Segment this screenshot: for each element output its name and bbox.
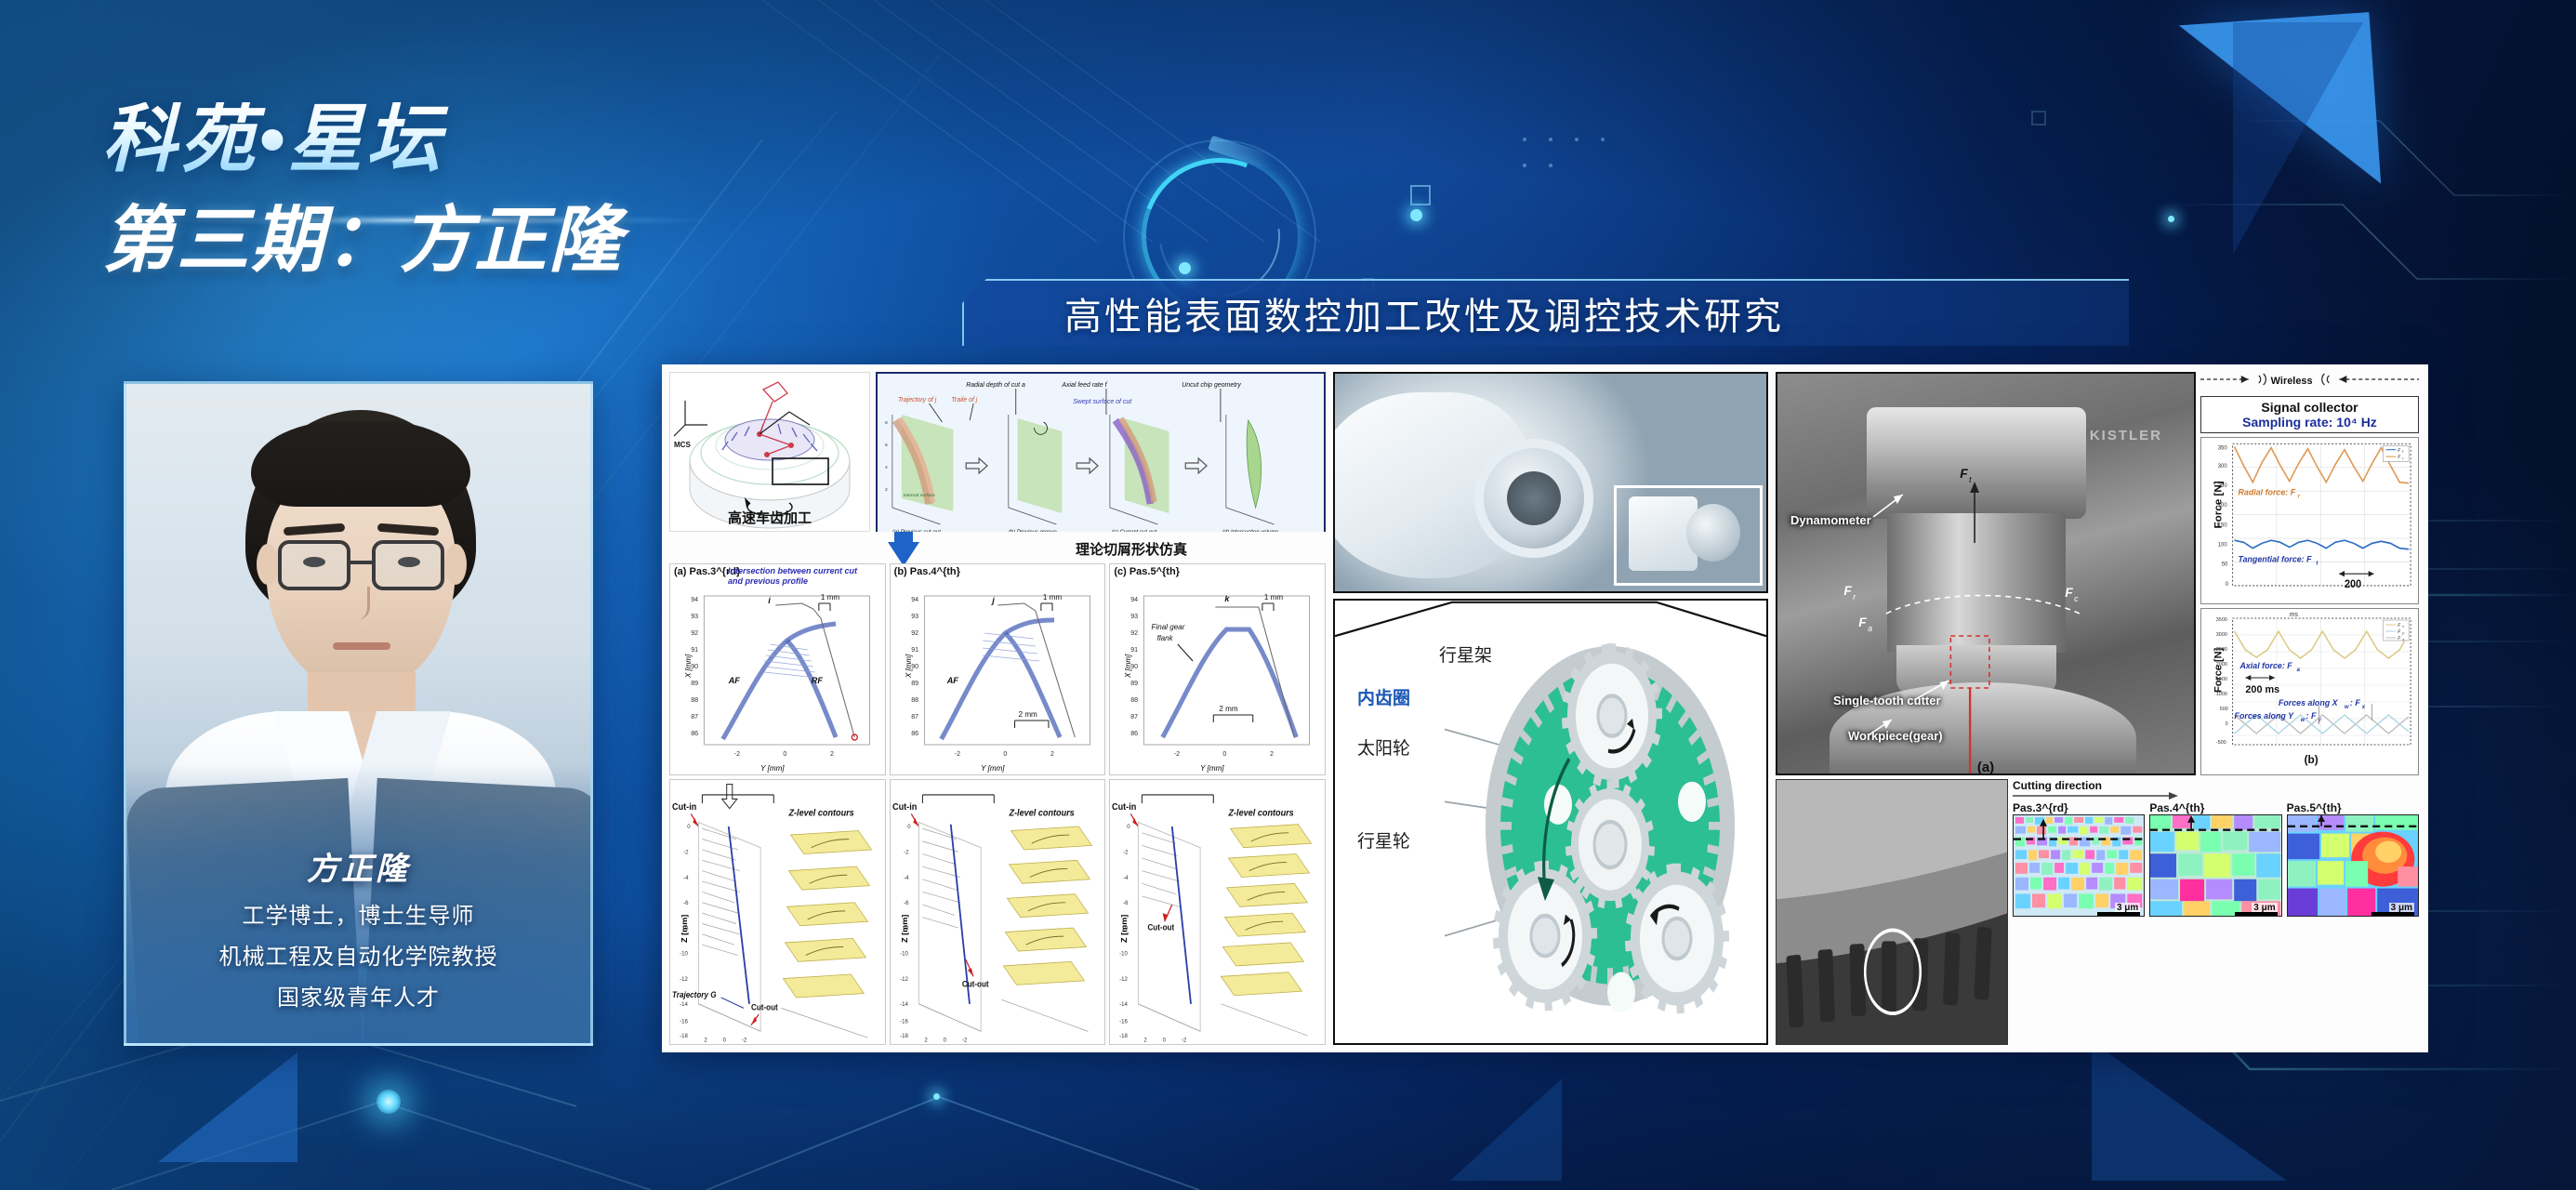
svg-text:Cut-out: Cut-out: [751, 1002, 778, 1012]
svg-text:-10: -10: [680, 950, 688, 957]
svg-text:91: 91: [911, 647, 918, 654]
svg-text:-12: -12: [900, 976, 908, 983]
wireless-link-row: Wireless: [2200, 372, 2419, 392]
svg-text:a: a: [1868, 624, 1872, 633]
svg-text:Force [N]: Force [N]: [2213, 647, 2225, 693]
svg-text:-2: -2: [1174, 751, 1180, 758]
svg-text:93: 93: [1131, 614, 1139, 620]
poster-column-gearbox: 行星架 内齿圈 太阳轮 行星轮: [1333, 372, 1768, 1045]
svg-text:F: F: [1960, 466, 1968, 481]
ebsd-caption-pas5: Pas.5^{th}: [2287, 801, 2419, 814]
svg-text:-4: -4: [1124, 875, 1129, 881]
svg-text:93: 93: [691, 614, 698, 620]
signal-collector-title: Signal collector: [2205, 400, 2414, 415]
svg-text:50: 50: [2222, 562, 2228, 568]
portrait-mouth: [333, 642, 390, 650]
svg-text:(b): (b): [2305, 753, 2318, 766]
svg-text:2: 2: [1050, 751, 1054, 758]
svg-text:Trajectory G: Trajectory G: [672, 990, 717, 1000]
sim-flow-arrow-row: 理论切屑形状仿真: [669, 535, 1326, 560]
ebsd-map-pas3-svg: [2014, 815, 2144, 916]
ebsd-scale-bar-pas4: [2235, 912, 2278, 916]
portrait-ear-left: [257, 544, 279, 585]
svg-text:92: 92: [911, 630, 918, 637]
svg-text:Radial depth of cut a: Radial depth of cut a: [966, 382, 1025, 389]
svg-text:94: 94: [911, 597, 918, 603]
ebsd-map-pas4: 3 μm: [2149, 814, 2281, 917]
force-chart-bottom-svg: ms 350030002500 2000150: [2201, 609, 2418, 774]
svg-text:0: 0: [1163, 1037, 1167, 1043]
svg-text:88: 88: [911, 697, 918, 704]
ebsd-map-pas3: 3 μm: [2013, 814, 2145, 917]
svg-text:Uncut chip geometry: Uncut chip geometry: [1182, 382, 1241, 389]
contour-plot-1-svg: Cut-in 0-2-4-6 -8-10-12-14 -16-18: [670, 780, 885, 1044]
force-chart-top: 350300250 200150100 500 Radial force: Fr…: [2200, 437, 2419, 604]
svg-text:-18: -18: [900, 1033, 908, 1039]
svg-text:91: 91: [1131, 647, 1139, 654]
profile-plot-a-legend: Intersection between current cut and pre…: [728, 566, 867, 587]
profile-plot-row: (a) Pas.3^{rd} Intersection between curr…: [669, 563, 1326, 775]
svg-text:Axial feed rate f: Axial feed rate f: [1061, 382, 1107, 389]
svg-text:t: t: [1969, 475, 1972, 484]
force-charts-column: Wireless Signal collector Sampling rate:…: [2200, 372, 2419, 775]
ebsd-panel: Cutting direction Pas.3^{rd}: [2013, 779, 2419, 1045]
portrait-nose: [350, 587, 370, 620]
svg-text:6: 6: [885, 443, 888, 448]
svg-text:2: 2: [830, 751, 834, 758]
svg-text:y: y: [2317, 718, 2321, 723]
triangle-decor-3: [158, 1052, 297, 1162]
svg-text:87: 87: [911, 714, 918, 721]
svg-text:Z [mm]: Z [mm]: [900, 915, 908, 943]
ebsd-map-row: Pas.3^{rd}: [2013, 801, 2419, 917]
svg-text:88: 88: [691, 697, 698, 704]
svg-text:: F: : F: [2306, 711, 2317, 721]
svg-text:: F: : F: [2350, 698, 2360, 707]
svg-text:-10: -10: [1119, 950, 1128, 957]
svg-text:-4: -4: [683, 875, 689, 881]
profile-plot-b-svg: 949392 919089 888786 -202 1 mm: [891, 564, 1105, 776]
svg-text:2 mm: 2 mm: [1018, 710, 1037, 719]
svg-text:X [mm]: X [mm]: [1125, 654, 1133, 679]
svg-text:Z-level contours: Z-level contours: [1008, 808, 1075, 819]
svg-text:(b) Previous groove: (b) Previous groove: [1009, 530, 1058, 532]
svg-text:2 mm: 2 mm: [1220, 705, 1239, 713]
svg-text:-2: -2: [904, 849, 909, 855]
svg-text:-2: -2: [954, 751, 959, 758]
contour-plot-3: Cut-in 0-2-4-6 -8-10-12-14 -16-18: [1109, 779, 1326, 1045]
svg-text:Trajectory of j: Trajectory of j: [898, 397, 937, 403]
svg-text:-4: -4: [904, 875, 909, 881]
ebsd-scale-bar-pas5: [2371, 912, 2414, 916]
svg-text:0: 0: [687, 824, 691, 830]
glow-node-4: [933, 1093, 940, 1100]
svg-text:93: 93: [911, 614, 918, 620]
cutting-direction-arrow-icon: [2013, 792, 2180, 800]
planetary-gear-svg: [1335, 601, 1766, 1043]
svg-text:92: 92: [691, 630, 698, 637]
svg-text:-16: -16: [680, 1018, 688, 1025]
triangle-decor-5: [1450, 1078, 1562, 1181]
svg-text:Cut-in: Cut-in: [1112, 801, 1136, 813]
svg-text:3000: 3000: [2216, 632, 2227, 638]
svg-text:Tangential force: F: Tangential force: F: [2238, 554, 2311, 563]
svg-text:200 ms: 200 ms: [2245, 684, 2279, 695]
svg-text:-2: -2: [683, 849, 689, 855]
chip-formation-panel: Radial depth of cut a Axial feed rate f …: [876, 372, 1326, 532]
svg-text:-18: -18: [680, 1033, 688, 1039]
speaker-credential-1: 工学博士，博士生导师: [126, 897, 590, 930]
svg-text:Radial force: F: Radial force: F: [2238, 487, 2295, 496]
svg-text:88: 88: [1131, 697, 1139, 704]
svg-text:-500: -500: [2216, 740, 2226, 746]
svg-text:RF: RF: [812, 676, 824, 685]
svg-text:2: 2: [885, 487, 888, 493]
speaker-credential-2: 机械工程及自动化学院教授: [126, 938, 590, 971]
svg-text:Cut-in: Cut-in: [672, 801, 696, 813]
svg-text:F: F: [1843, 583, 1852, 598]
speaker-credential-3: 国家级青年人才: [126, 979, 590, 1011]
chip-formation-svg: Radial depth of cut a Axial feed rate f …: [878, 374, 1324, 532]
simulation-top-row: MCS 高速车齿加工 Radial depth of cut a Axial f…: [669, 372, 1326, 532]
svg-text:100: 100: [2218, 541, 2227, 548]
svg-text:0: 0: [1128, 824, 1131, 830]
svg-text:(c) Current cut-out: (c) Current cut-out: [1112, 530, 1157, 532]
svg-text:MCS: MCS: [674, 441, 691, 449]
sim-caption-right: 理论切屑形状仿真: [937, 539, 1326, 559]
profile-plot-c: (c) Pas.5^{th} 949392 919089 888786 -202…: [1109, 563, 1326, 775]
svg-text:-2: -2: [742, 1037, 747, 1043]
svg-text:c: c: [2074, 594, 2079, 603]
cutting-direction-label: Cutting direction: [2013, 779, 2419, 792]
svg-text:ms: ms: [2290, 612, 2299, 618]
profile-plot-b: (b) Pas.4^{th} 949392 919089 888786 -202: [890, 563, 1106, 775]
svg-text:j: j: [991, 596, 995, 605]
svg-text:-16: -16: [1119, 1018, 1128, 1025]
ebsd-cell-pas5: Pas.5^{th}: [2287, 801, 2419, 917]
poster-column-experiment: KISTLER Dynamometer Single-tooth cutter …: [1776, 372, 2419, 1045]
svg-text:350: 350: [2218, 445, 2227, 452]
svg-text:-14: -14: [680, 1001, 688, 1008]
title-block: 科苑•星坛 第三期：方正隆: [102, 102, 865, 279]
svg-text:Y [mm]: Y [mm]: [981, 764, 1005, 773]
svg-text:0: 0: [907, 824, 911, 830]
svg-text:2: 2: [1144, 1037, 1148, 1043]
svg-text:Axial force: F: Axial force: F: [2239, 661, 2292, 670]
svg-text:-2: -2: [734, 751, 740, 758]
svg-text:1 mm: 1 mm: [1264, 593, 1284, 602]
portrait-glasses-bridge: [350, 561, 372, 564]
svg-text:-6: -6: [683, 900, 689, 906]
svg-text:F: F: [2065, 585, 2073, 600]
contour-plot-2-svg: Cut-in 0-2-4-6 -8-10-12-14 -16-18: [891, 780, 1105, 1044]
svg-text:Y [mm]: Y [mm]: [760, 764, 785, 773]
svg-text:Forces along Y: Forces along Y: [2235, 711, 2295, 721]
profile-plot-a-svg: 949392 919089 888786 -202: [670, 564, 885, 776]
svg-text:-12: -12: [1119, 976, 1128, 983]
triangle-decor-4: [2092, 1041, 2287, 1181]
glow-node-1: [376, 1090, 401, 1114]
svg-text:w: w: [2301, 718, 2305, 723]
svg-text:0: 0: [723, 1037, 727, 1043]
svg-text:94: 94: [691, 597, 698, 603]
svg-text:Cut-out: Cut-out: [962, 979, 989, 989]
svg-text:Z-level contours: Z-level contours: [788, 808, 855, 819]
svg-text:z: z: [2401, 637, 2404, 641]
svg-text:-6: -6: [904, 900, 909, 906]
svg-text:-14: -14: [1119, 1001, 1128, 1008]
svg-text:-12: -12: [680, 976, 688, 983]
svg-text:F: F: [1858, 615, 1867, 629]
banner-corner-glow: [1179, 262, 1191, 274]
triangle-decor-2: [2233, 22, 2363, 255]
profile-plot-c-label: (c) Pas.5^{th}: [1114, 566, 1180, 577]
svg-text:Traile of j: Traile of j: [951, 397, 977, 403]
contour-plot-3-svg: Cut-in 0-2-4-6 -8-10-12-14 -16-18: [1110, 780, 1325, 1044]
ebsd-caption-pas3: Pas.3^{rd}: [2013, 801, 2145, 814]
gear-turning-schematic: MCS 高速车齿加工: [669, 372, 870, 532]
svg-text:0: 0: [1003, 751, 1007, 758]
profile-plot-b-label: (b) Pas.4^{th}: [894, 566, 960, 577]
episode-title: 第三期：方正隆: [102, 203, 865, 279]
svg-text:Swept surface of cut: Swept surface of cut: [1073, 399, 1132, 405]
topic-banner: 高性能表面数控加工改性及调控技术研究: [962, 279, 2129, 346]
svg-text:0: 0: [943, 1037, 946, 1043]
ebsd-map-pas5-svg: [2288, 815, 2418, 916]
svg-text:-6: -6: [1124, 900, 1129, 906]
experiment-bottom-row: Cutting direction Pas.3^{rd}: [1776, 779, 2419, 1045]
portrait-glasses-left: [278, 540, 350, 590]
gearbox-detail-gear: [1686, 504, 1740, 562]
topic-banner-text: 高性能表面数控加工改性及调控技术研究: [1064, 286, 1784, 340]
research-poster: MCS 高速车齿加工 Radial depth of cut a Axial f…: [662, 364, 2428, 1052]
svg-text:94: 94: [1131, 597, 1139, 603]
svg-text:2: 2: [1270, 751, 1274, 758]
svg-text:Final gear: Final gear: [1152, 623, 1185, 631]
svg-text:0: 0: [783, 751, 786, 758]
machined-gear-photo: [1776, 779, 2008, 1045]
svg-text:89: 89: [1131, 681, 1139, 687]
glow-node-2: [1410, 209, 1422, 221]
svg-text:Internal surface: Internal surface: [904, 493, 935, 498]
machined-gear-svg: [1777, 780, 2007, 1044]
svg-text:flank: flank: [1157, 634, 1174, 642]
svg-text:87: 87: [1131, 714, 1139, 721]
contour-plot-row: Cut-in 0-2-4-6 -8-10-12-14 -16-18: [669, 779, 1326, 1045]
svg-text:x: x: [2361, 705, 2366, 710]
svg-text:Z-level contours: Z-level contours: [1228, 808, 1295, 819]
svg-text:Wireless: Wireless: [2271, 376, 2313, 387]
svg-text:89: 89: [911, 681, 918, 687]
planetary-gear-schematic: 行星架 内齿圈 太阳轮 行星轮: [1333, 599, 1768, 1045]
wind-turbine-gearbox-photo: [1333, 372, 1768, 593]
svg-text:Y [mm]: Y [mm]: [1200, 764, 1224, 773]
svg-text:0: 0: [2226, 721, 2228, 727]
signal-collector-rate: Sampling rate: 10⁴ Hz: [2205, 415, 2414, 430]
svg-text:w: w: [2345, 705, 2349, 710]
ring-segment-decor: [1208, 136, 1275, 170]
svg-text:500: 500: [2220, 707, 2228, 712]
svg-text:Forces along X: Forces along X: [2279, 698, 2339, 707]
glow-node-3: [2168, 216, 2174, 222]
svg-text:-10: -10: [900, 950, 908, 957]
speaker-portrait-card: 方正隆 工学博士，博士生导师 机械工程及自动化学院教授 国家级青年人才: [124, 381, 593, 1046]
profile-plot-c-svg: 949392 919089 888786 -202 1 mm 2 mm k Fi…: [1110, 564, 1325, 776]
svg-text:Cut-in: Cut-in: [892, 801, 917, 813]
svg-text:300: 300: [2218, 463, 2227, 469]
svg-text:8: 8: [885, 420, 888, 426]
presentation-slide: 科苑•星坛 第三期：方正隆 高性能表面数控加工改性及调控技术研究 方正隆: [0, 0, 2576, 1190]
dynamometer-setup-photo: KISTLER Dynamometer Single-tooth cutter …: [1776, 372, 2196, 775]
sim-caption-left: 高速车齿加工: [670, 508, 869, 527]
svg-text:Z [mm]: Z [mm]: [1120, 915, 1129, 943]
speaker-info: 方正隆 工学博士，博士生导师 机械工程及自动化学院教授 国家级青年人才: [126, 843, 590, 1011]
experiment-top-row: KISTLER Dynamometer Single-tooth cutter …: [1776, 372, 2419, 775]
force-chart-top-svg: 350300250 200150100 500 Radial force: Fr…: [2201, 438, 2418, 603]
svg-text:-2: -2: [1124, 849, 1129, 855]
speaker-name: 方正隆: [126, 843, 590, 889]
svg-text:AF: AF: [945, 676, 958, 685]
svg-text:2: 2: [704, 1037, 707, 1043]
svg-text:Z [mm]: Z [mm]: [680, 915, 689, 943]
svg-text:1 mm: 1 mm: [821, 593, 840, 602]
svg-text:-18: -18: [1119, 1033, 1128, 1039]
poster-column-simulation: MCS 高速车齿加工 Radial depth of cut a Axial f…: [669, 372, 1326, 1045]
series-title: 科苑•星坛: [102, 102, 865, 177]
contour-plot-1: Cut-in 0-2-4-6 -8-10-12-14 -16-18: [669, 779, 886, 1045]
svg-text:92: 92: [1131, 630, 1139, 637]
svg-text:89: 89: [691, 681, 698, 687]
svg-text:87: 87: [691, 714, 698, 721]
svg-text:Cut-out: Cut-out: [1148, 922, 1175, 932]
svg-text:0: 0: [2226, 581, 2229, 588]
svg-text:2: 2: [924, 1037, 928, 1043]
dyno-caption: (a): [1777, 760, 2194, 775]
svg-text:-14: -14: [900, 1001, 908, 1008]
svg-text:3500: 3500: [2216, 617, 2227, 623]
svg-text:X [mm]: X [mm]: [684, 654, 693, 679]
signal-collector-box: Signal collector Sampling rate: 10⁴ Hz: [2200, 396, 2419, 433]
svg-text:0: 0: [1223, 751, 1227, 758]
svg-text:-2: -2: [962, 1037, 968, 1043]
ebsd-caption-pas4: Pas.4^{th}: [2149, 801, 2281, 814]
ebsd-scale-bar-pas3: [2097, 912, 2140, 916]
force-chart-bottom: ms 350030002500 2000150: [2200, 608, 2419, 775]
svg-text:AF: AF: [728, 676, 741, 685]
ebsd-cell-pas4: Pas.4^{th}: [2149, 801, 2281, 917]
wireless-link-svg: Wireless: [2200, 372, 2419, 392]
triangle-decor-1: [2179, 12, 2381, 197]
svg-text:Force [N]: Force [N]: [2213, 481, 2225, 528]
ebsd-map-pas5: 3 μm: [2287, 814, 2419, 917]
portrait-fringe: [251, 421, 470, 507]
svg-text:200: 200: [2345, 579, 2361, 590]
contour-plot-2: Cut-in 0-2-4-6 -8-10-12-14 -16-18: [890, 779, 1106, 1045]
profile-plot-a: (a) Pas.3^{rd} Intersection between curr…: [669, 563, 886, 775]
svg-text:-16: -16: [900, 1018, 908, 1025]
portrait-glasses-right: [372, 540, 444, 590]
svg-text:1 mm: 1 mm: [1043, 593, 1063, 602]
svg-text:X [mm]: X [mm]: [905, 654, 913, 679]
svg-text:-2: -2: [1182, 1037, 1187, 1043]
gearbox-shaft: [1507, 471, 1561, 525]
svg-text:4: 4: [885, 465, 888, 470]
svg-text:86: 86: [911, 731, 918, 737]
dyno-annotation-svg: F t F r F a F c: [1777, 374, 2194, 773]
svg-text:86: 86: [691, 731, 698, 737]
svg-text:(a) Previous cut-out: (a) Previous cut-out: [892, 530, 941, 532]
svg-text:91: 91: [691, 647, 698, 654]
svg-text:r: r: [1853, 592, 1856, 602]
portrait-ear-right: [444, 544, 467, 585]
ebsd-cell-pas3: Pas.3^{rd}: [2013, 801, 2145, 917]
svg-text:86: 86: [1131, 731, 1139, 737]
svg-text:(d) Intersection volume: (d) Intersection volume: [1222, 530, 1279, 532]
ebsd-map-pas4-svg: [2150, 815, 2280, 916]
